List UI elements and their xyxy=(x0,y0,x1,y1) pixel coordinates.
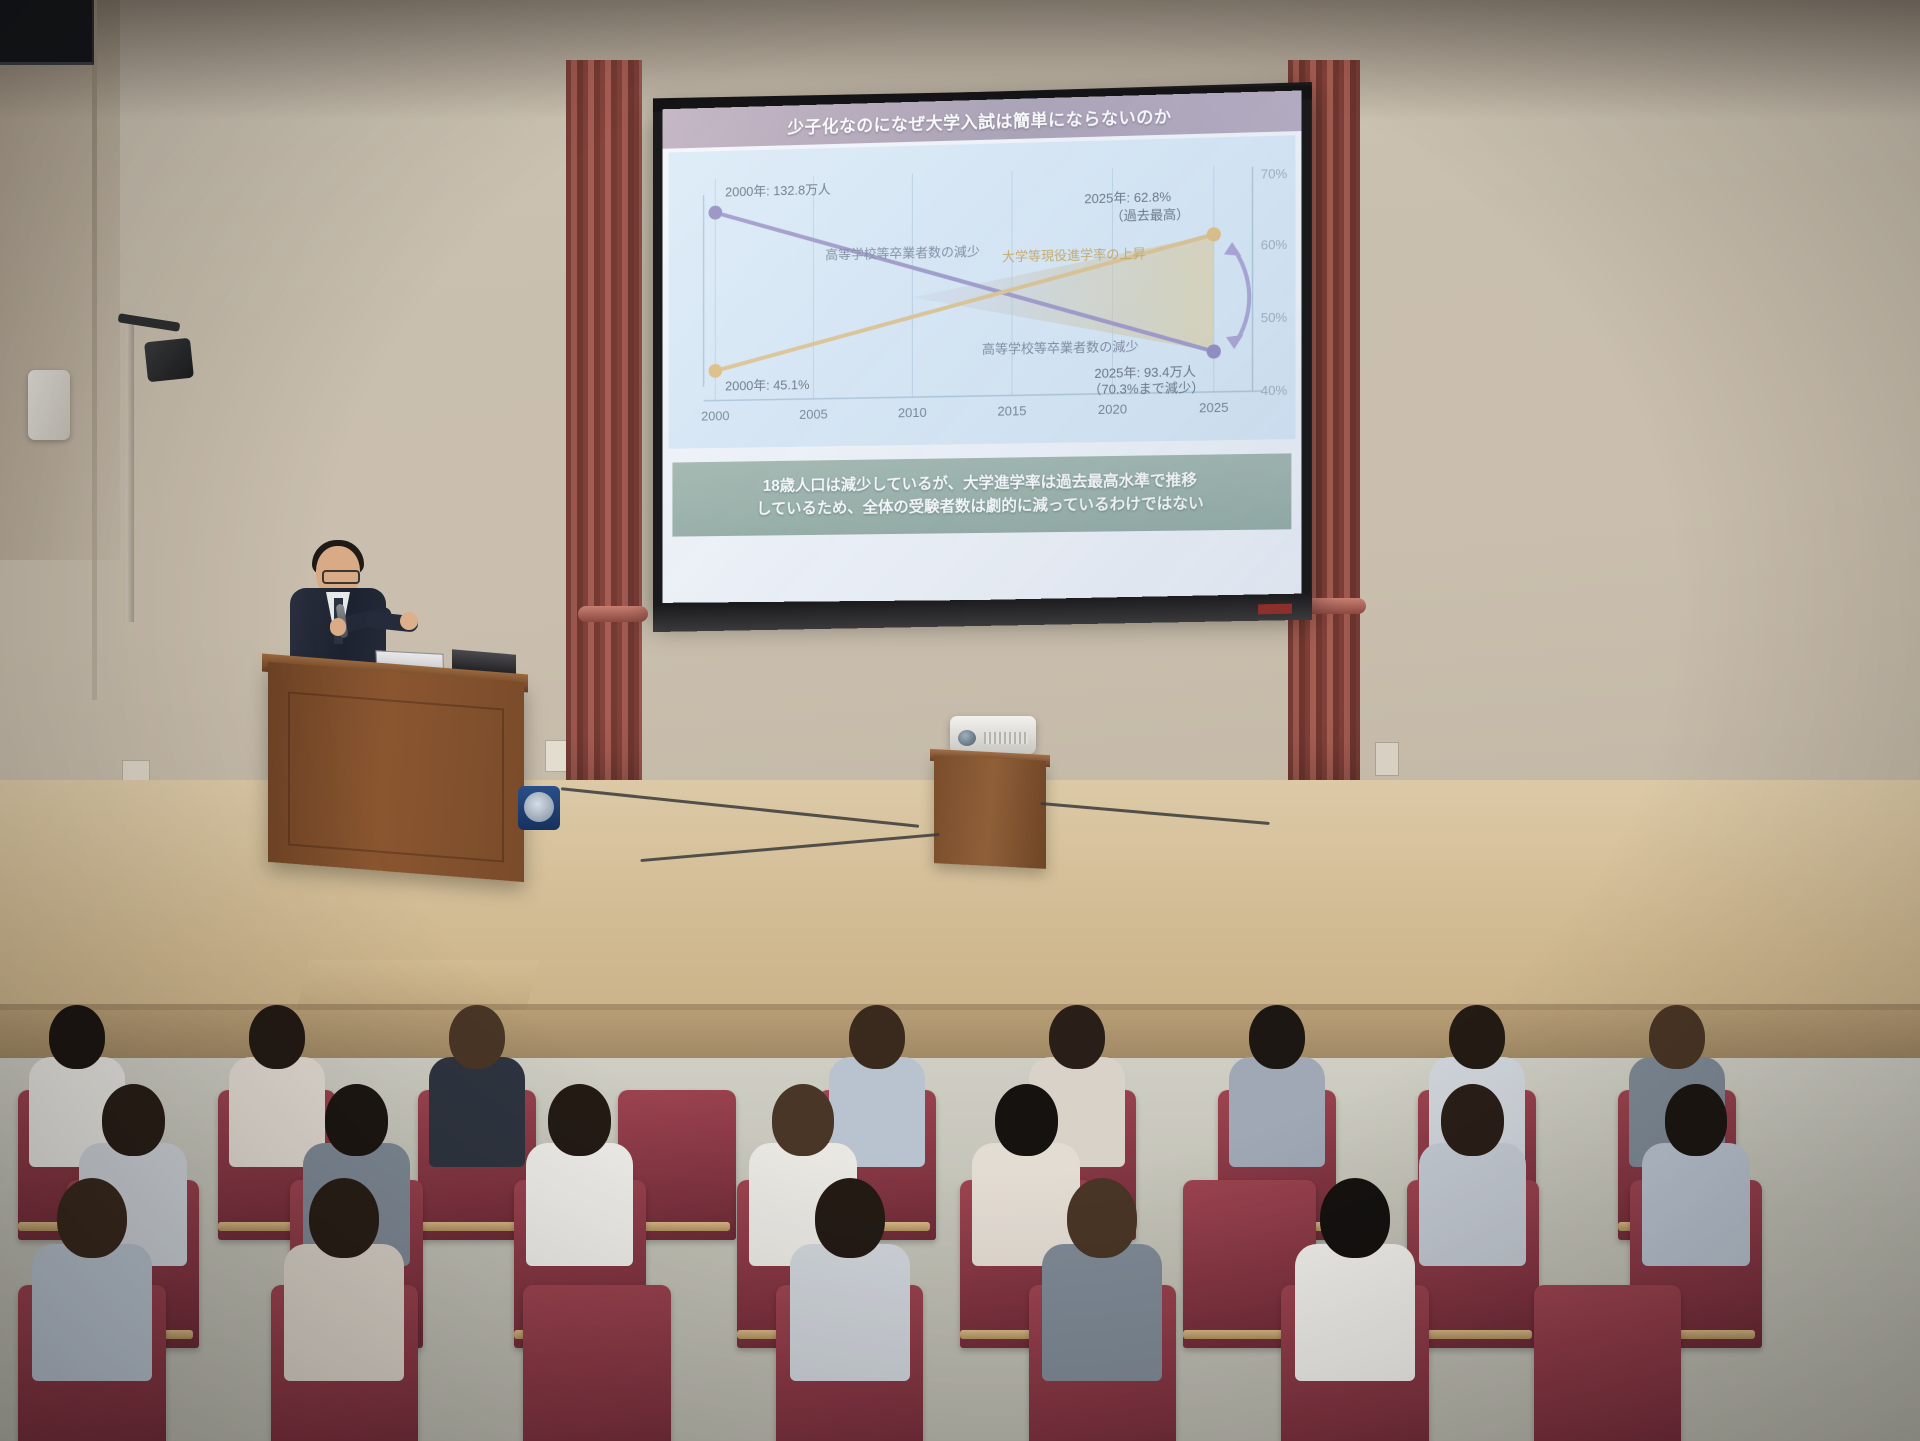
audience-member-torso xyxy=(284,1244,404,1382)
projector-lens-icon xyxy=(958,730,976,746)
audience-member-head xyxy=(449,1005,505,1069)
audience-member-head xyxy=(102,1084,165,1156)
annotation-graduates-decline-top: 高等学校等卒業者数の減少 xyxy=(825,244,980,263)
lecture-hall-scene: 少子化なのになぜ大学入試は簡単にならないのか xyxy=(0,0,1920,1441)
label-enrollment-end: 2025年: 62.8% xyxy=(1084,189,1171,206)
screen-indicator xyxy=(1258,604,1292,615)
y-tick-labels: 70% 60% 50% 40% xyxy=(1261,166,1288,398)
podium-front-panel xyxy=(288,692,504,863)
projector-vent xyxy=(984,732,1028,744)
annotation-graduates-decline-bottom: 高等学校等卒業者数の減少 xyxy=(982,339,1139,357)
audience-member-head xyxy=(815,1178,885,1258)
audience-member-torso xyxy=(1295,1244,1415,1382)
audience-member-head xyxy=(1649,1005,1705,1069)
slide: 少子化なのになぜ大学入試は簡単にならないのか xyxy=(663,90,1302,602)
projection-screen: 少子化なのになぜ大学入試は簡単にならないのか xyxy=(663,90,1302,602)
audience-member-torso xyxy=(1642,1143,1750,1266)
audience-member-head xyxy=(1049,1005,1105,1069)
light-pole xyxy=(126,322,134,622)
y-tick-40: 40% xyxy=(1261,382,1288,398)
gap-arrow-head-bottom xyxy=(1226,335,1243,349)
x-tick-2015: 2015 xyxy=(998,403,1027,419)
audience-member-torso xyxy=(790,1244,910,1382)
audience-member-head xyxy=(1320,1178,1390,1258)
audience-member-head xyxy=(1449,1005,1505,1069)
audience-member-head xyxy=(849,1005,905,1069)
audience-member-head xyxy=(325,1084,388,1156)
x-tick-2020: 2020 xyxy=(1098,401,1127,417)
label-enrollment-start: 2000年: 45.1% xyxy=(725,377,809,393)
audience-member-head xyxy=(1067,1178,1137,1258)
series-enrollment-end-point xyxy=(1207,227,1221,241)
slide-summary: 18歳人口は減少しているが、大学進学率は過去最高水準で推移 しているため、全体の… xyxy=(672,453,1291,536)
audience-member-head xyxy=(49,1005,105,1069)
projector-table xyxy=(934,755,1046,869)
curtain-tie-left xyxy=(578,606,648,622)
audience-member-head xyxy=(548,1084,611,1156)
label-graduates-start: 2000年: 132.8万人 xyxy=(725,182,831,200)
series-enrollment-start-point xyxy=(709,364,723,378)
wall-monitor xyxy=(0,0,94,65)
curtain-left xyxy=(566,60,642,820)
x-tick-2000: 2000 xyxy=(701,408,729,423)
audience-member-torso xyxy=(1229,1057,1325,1167)
gap-arrow-icon xyxy=(1232,246,1249,345)
audience-member-head xyxy=(309,1178,379,1258)
wall-plate-right xyxy=(1375,742,1399,776)
audience-seat xyxy=(1534,1285,1682,1441)
wall-corner xyxy=(92,0,97,700)
audience-member-head xyxy=(995,1084,1058,1156)
floor-fan-face xyxy=(524,792,554,822)
audience-member-torso xyxy=(429,1057,525,1167)
audience-member-torso xyxy=(1419,1143,1527,1266)
presenter-right-hand xyxy=(400,612,418,630)
audience-member-head xyxy=(1665,1084,1728,1156)
audience-member-head xyxy=(1249,1005,1305,1069)
y-tick-50: 50% xyxy=(1261,310,1288,326)
label-graduates-end-sub: （70.3%まで減少） xyxy=(1088,380,1204,397)
chart-area: 2000年: 132.8万人 2025年: 62.8% （過去最高） 2000年… xyxy=(669,135,1296,449)
audience-member-torso xyxy=(1042,1244,1162,1382)
gap-arrow-head-top xyxy=(1224,242,1241,257)
audience-member-head xyxy=(1441,1084,1504,1156)
audience-member-head xyxy=(57,1178,127,1258)
x-tick-labels: 2000 2005 2010 2015 2020 2025 xyxy=(701,400,1228,424)
audience-member-torso xyxy=(32,1244,152,1382)
wall-plate xyxy=(122,760,150,782)
wall-speaker-icon xyxy=(28,370,70,440)
glasses-icon xyxy=(322,570,360,584)
x-tick-2005: 2005 xyxy=(799,406,827,421)
audience-member-head xyxy=(249,1005,305,1069)
series-graduates-start-point xyxy=(709,205,723,219)
x-tick-2010: 2010 xyxy=(898,405,927,421)
y-tick-60: 60% xyxy=(1261,237,1288,253)
audience-member-head xyxy=(772,1084,835,1156)
y-tick-70: 70% xyxy=(1261,166,1288,182)
presenter-left-hand xyxy=(330,618,346,636)
audience-member-torso xyxy=(526,1143,634,1266)
line-chart: 2000年: 132.8万人 2025年: 62.8% （過去最高） 2000年… xyxy=(669,135,1296,449)
x-tick-2025: 2025 xyxy=(1199,400,1228,416)
label-enrollment-end-sub: （過去最高） xyxy=(1110,207,1189,224)
annotation-enrollment-rise: 大学等現役進学率の上昇 xyxy=(1002,246,1146,264)
spotlight-icon xyxy=(144,338,194,383)
audience-seat xyxy=(523,1285,671,1441)
slide-footer-space xyxy=(663,529,1302,603)
label-graduates-end: 2025年: 93.4万人 xyxy=(1094,364,1196,381)
